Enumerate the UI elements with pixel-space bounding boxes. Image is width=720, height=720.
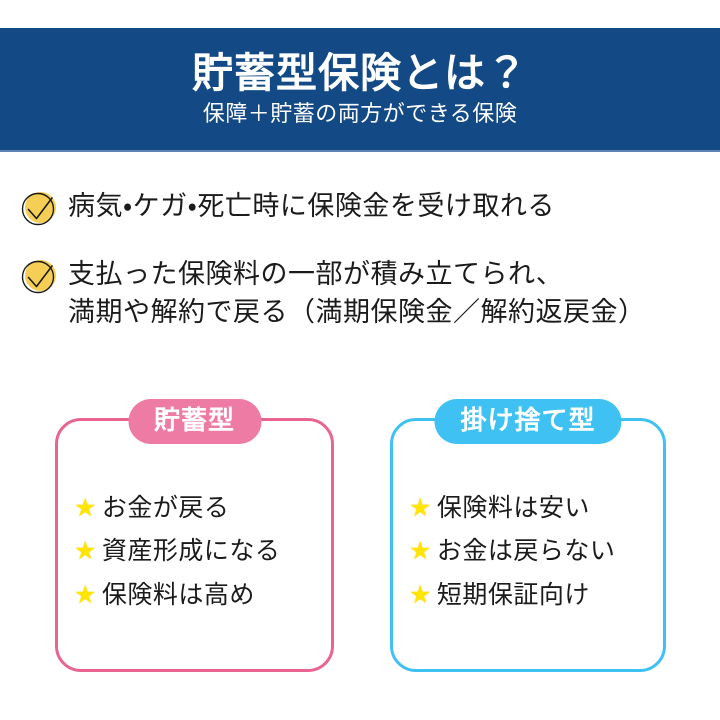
comparison-cards: 貯蓄型 ★ お金が戻る ★ 資産形成になる ★ 保険料は高め 掛け捨て型: [0, 418, 720, 676]
check-circle-icon: [18, 256, 60, 298]
card-savings-badge: 貯蓄型: [128, 399, 261, 444]
list-item-label: 短期保証向け: [437, 580, 590, 611]
page-title: 貯蓄型保険とは？: [192, 50, 528, 97]
card-term-list: ★ 保険料は安い ★ お金は戻らない ★ 短期保証向け: [393, 421, 663, 611]
card-savings-type: 貯蓄型 ★ お金が戻る ★ 資産形成になる ★ 保険料は高め: [55, 418, 334, 672]
header-band: 貯蓄型保険とは？ 保障＋貯蓄の両方ができる保険: [0, 28, 720, 152]
star-icon: ★: [409, 583, 432, 608]
list-item-label: 保険料は安い: [437, 493, 590, 524]
infographic-canvas: 貯蓄型保険とは？ 保障＋貯蓄の両方ができる保険 病気・ケガ・死亡時に保険金を受け…: [0, 0, 720, 720]
list-item: ★ 保険料は安い: [409, 493, 663, 524]
star-icon: ★: [409, 496, 432, 521]
star-icon: ★: [409, 539, 432, 564]
star-icon: ★: [74, 496, 97, 521]
star-icon: ★: [74, 539, 97, 564]
star-icon: ★: [74, 583, 97, 608]
card-savings-list: ★ お金が戻る ★ 資産形成になる ★ 保険料は高め: [58, 421, 331, 611]
list-item: ★ お金が戻る: [74, 493, 331, 524]
benefit-item-text: 病気・ケガ・死亡時に保険金を受け取れる: [68, 186, 555, 225]
benefit-item: 支払った保険料の一部が積み立てられ、 満期や解約で戻る（満期保険金／解約返戻金）: [0, 254, 720, 332]
benefit-item: 病気・ケガ・死亡時に保険金を受け取れる: [0, 186, 720, 230]
page-subtitle: 保障＋貯蓄の両方ができる保険: [203, 101, 518, 127]
list-item-label: お金が戻る: [102, 493, 230, 524]
list-item: ★ お金は戻らない: [409, 536, 663, 567]
card-term-badge: 掛け捨て型: [434, 399, 621, 444]
list-item: ★ 短期保証向け: [409, 580, 663, 611]
list-item: ★ 資産形成になる: [74, 536, 331, 567]
list-item-label: お金は戻らない: [437, 536, 616, 567]
benefits-list: 病気・ケガ・死亡時に保険金を受け取れる 支払った保険料の一部が積み立てられ、 満…: [0, 186, 720, 356]
check-circle-icon: [18, 188, 60, 230]
list-item: ★ 保険料は高め: [74, 580, 331, 611]
list-item-label: 保険料は高め: [102, 580, 255, 611]
list-item-label: 資産形成になる: [102, 536, 281, 567]
card-term-type: 掛け捨て型 ★ 保険料は安い ★ お金は戻らない ★ 短期保証向け: [390, 418, 666, 672]
benefit-item-text: 支払った保険料の一部が積み立てられ、 満期や解約で戻る（満期保険金／解約返戻金）: [68, 254, 646, 332]
